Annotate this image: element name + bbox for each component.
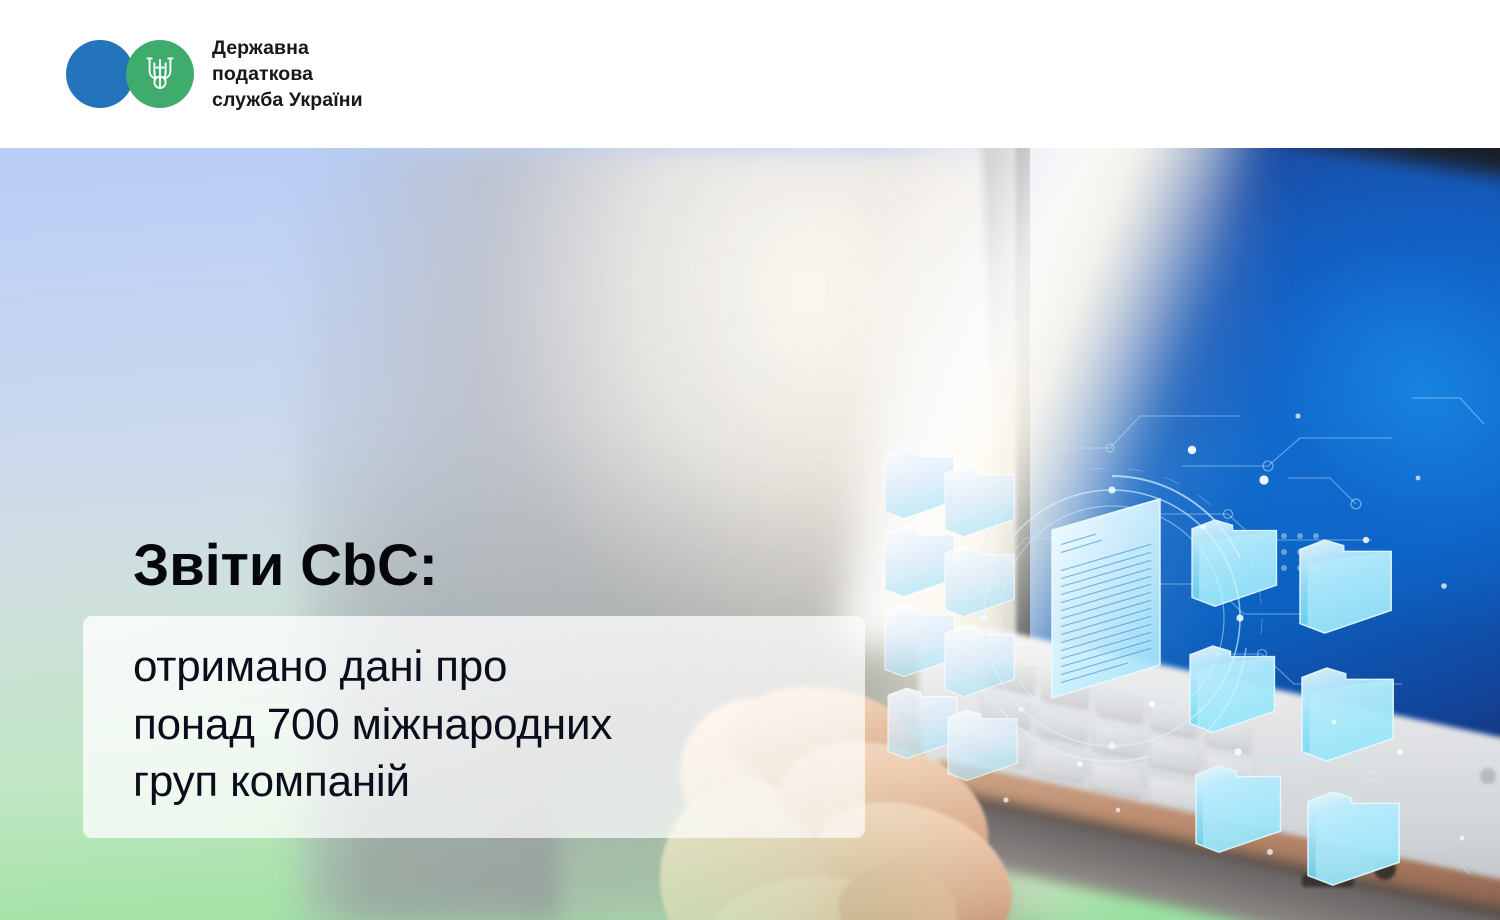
hero-body-text: отримано дані про понад 700 міжнародних … bbox=[133, 638, 893, 811]
ukraine-trident-emblem-icon bbox=[144, 54, 176, 94]
blue-circle-icon bbox=[66, 40, 134, 108]
laptop-port-slot bbox=[1302, 874, 1354, 887]
laptop-indicator-led bbox=[1480, 768, 1496, 784]
site-header: Державна податкова служба України bbox=[0, 0, 1500, 148]
hero-illustration: Звіти CbC: отримано дані про понад 700 м… bbox=[0, 148, 1500, 920]
poster-canvas: Державна податкова служба України bbox=[0, 0, 1500, 920]
page-title: Звіти CbC: bbox=[133, 536, 438, 597]
organization-name: Державна податкова служба України bbox=[212, 35, 363, 113]
logo-marks bbox=[66, 40, 194, 108]
laptop-port-jack bbox=[1374, 858, 1396, 880]
organization-logo[interactable]: Державна податкова служба України bbox=[66, 35, 363, 113]
